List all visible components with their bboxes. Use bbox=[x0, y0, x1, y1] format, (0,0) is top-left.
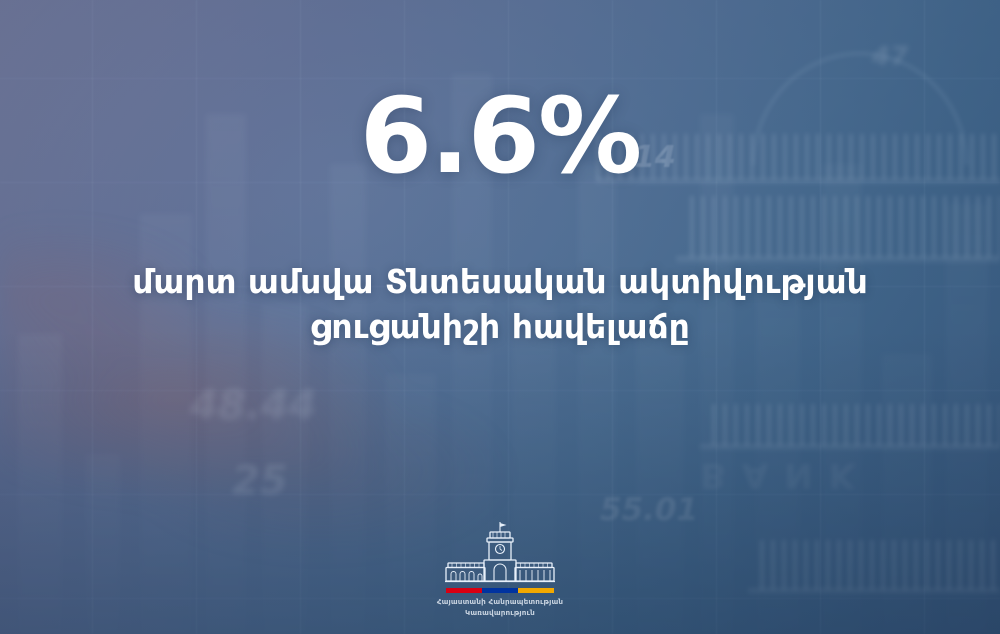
government-emblem: Հայաստանի Հանրապետության Կառավարություն bbox=[410, 521, 590, 618]
card-content: 6.6% մարտ ամսվա Տնտեսական ակտիվության ցո… bbox=[0, 0, 1000, 634]
flag-stripe-blue bbox=[482, 588, 518, 593]
infographic-card: 14 47 48.44 25 55.01 BANK 6.6% մարտ ամսվ… bbox=[0, 0, 1000, 634]
org-name-line-1: Հայաստանի Հանրապետության bbox=[437, 597, 563, 607]
org-name-line-2: Կառավարություն bbox=[437, 608, 563, 618]
caption-line-2: ցուցանիշի հավելաճը bbox=[70, 305, 930, 350]
armenia-government-house-icon bbox=[434, 521, 566, 585]
headline-caption: մարտ ամսվա Տնտեսական ակտիվության ցուցանի… bbox=[70, 260, 930, 350]
flag-stripe-orange bbox=[518, 588, 554, 593]
armenia-flag-stripes bbox=[446, 588, 554, 593]
headline-statistic: 6.6% bbox=[360, 84, 640, 188]
emblem-organization-name: Հայաստանի Հանրապետության Կառավարություն bbox=[437, 597, 563, 618]
caption-line-1: մարտ ամսվա Տնտեսական ակտիվության bbox=[70, 260, 930, 305]
flag-stripe-red bbox=[446, 588, 482, 593]
